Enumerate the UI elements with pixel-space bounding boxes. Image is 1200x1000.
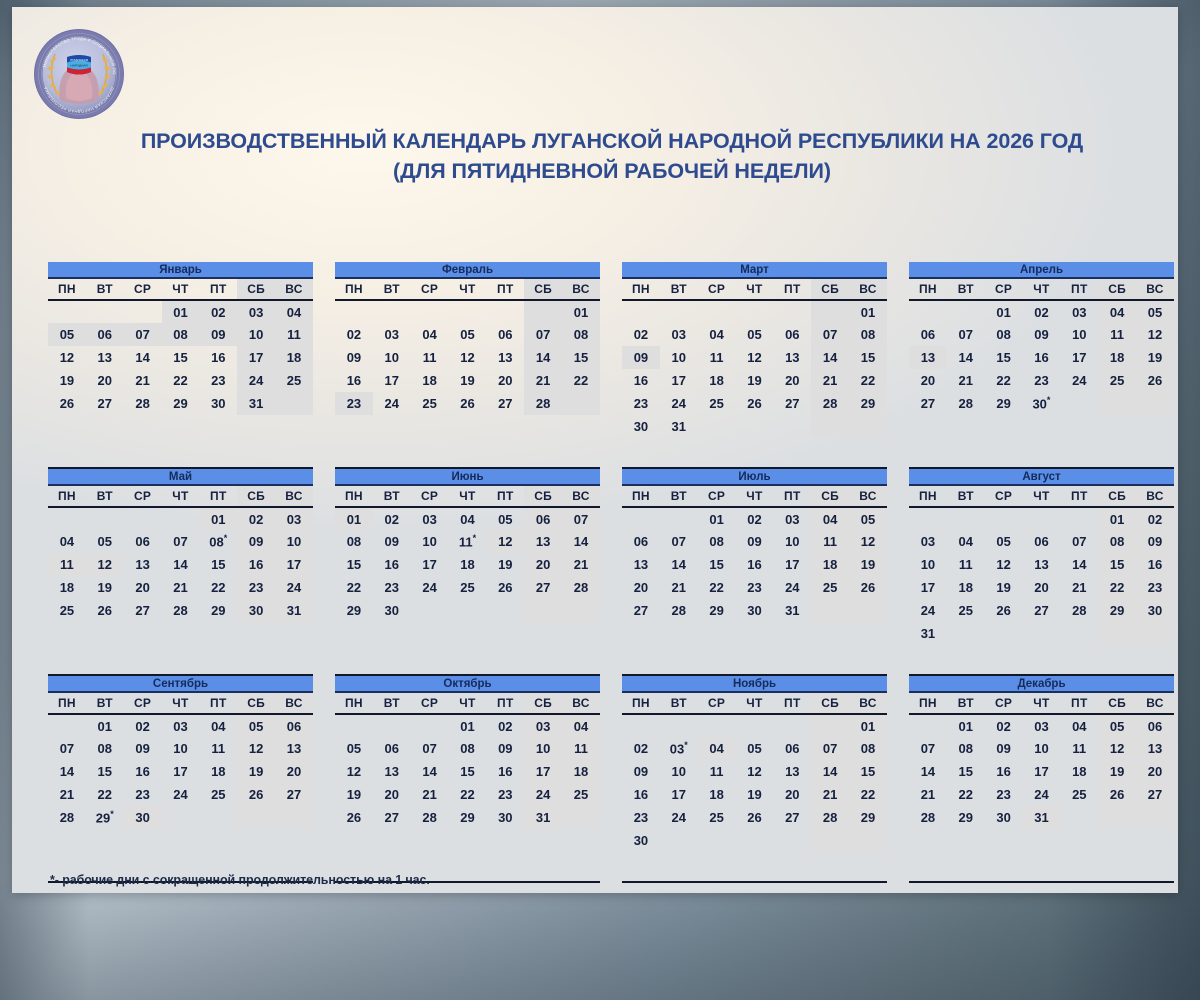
day-cell-5-02[interactable]: 02 — [237, 507, 275, 530]
day-cell-5-03[interactable]: 03 — [275, 507, 313, 530]
day-cell-1-04[interactable]: 04 — [275, 300, 313, 323]
day-cell-12-05[interactable]: 05 — [1098, 714, 1136, 737]
day-cell-4-08[interactable]: 08 — [985, 323, 1023, 346]
day-cell-4-20[interactable]: 20 — [909, 369, 947, 392]
day-cell-1-17[interactable]: 17 — [237, 346, 275, 369]
day-cell-9-21[interactable]: 21 — [48, 783, 86, 806]
day-cell-11-07[interactable]: 07 — [811, 737, 849, 760]
day-cell-6-19[interactable]: 19 — [486, 553, 524, 576]
day-cell-10-18[interactable]: 18 — [562, 760, 600, 783]
day-cell-12-12[interactable]: 12 — [1098, 737, 1136, 760]
day-cell-4-09[interactable]: 09 — [1023, 323, 1061, 346]
day-cell-3-09[interactable]: 09 — [622, 346, 660, 369]
day-cell-10-01[interactable]: 01 — [449, 714, 487, 737]
day-cell-10-08[interactable]: 08 — [449, 737, 487, 760]
day-cell-9-22[interactable]: 22 — [86, 783, 124, 806]
day-cell-4-27[interactable]: 27 — [909, 392, 947, 415]
day-cell-1-31[interactable]: 31 — [237, 392, 275, 415]
day-cell-8-25[interactable]: 25 — [947, 599, 985, 622]
day-cell-7-03[interactable]: 03 — [773, 507, 811, 530]
day-cell-6-08[interactable]: 08 — [335, 530, 373, 553]
day-cell-8-27[interactable]: 27 — [1023, 599, 1061, 622]
day-cell-7-07[interactable]: 07 — [660, 530, 698, 553]
day-cell-6-01[interactable]: 01 — [335, 507, 373, 530]
day-cell-7-18[interactable]: 18 — [811, 553, 849, 576]
day-cell-7-12[interactable]: 12 — [849, 530, 887, 553]
day-cell-4-12[interactable]: 12 — [1136, 323, 1174, 346]
day-cell-12-07[interactable]: 07 — [909, 737, 947, 760]
day-cell-9-25[interactable]: 25 — [199, 783, 237, 806]
day-cell-3-12[interactable]: 12 — [736, 346, 774, 369]
day-cell-6-11[interactable]: 11* — [449, 530, 487, 553]
day-cell-9-19[interactable]: 19 — [237, 760, 275, 783]
day-cell-11-10[interactable]: 10 — [660, 760, 698, 783]
day-cell-9-13[interactable]: 13 — [275, 737, 313, 760]
day-cell-12-21[interactable]: 21 — [909, 783, 947, 806]
day-cell-8-03[interactable]: 03 — [909, 530, 947, 553]
day-cell-2-05[interactable]: 05 — [449, 323, 487, 346]
day-cell-9-28[interactable]: 28 — [48, 806, 86, 829]
day-cell-9-08[interactable]: 08 — [86, 737, 124, 760]
day-cell-2-26[interactable]: 26 — [449, 392, 487, 415]
day-cell-11-23[interactable]: 23 — [622, 806, 660, 829]
day-cell-8-31[interactable]: 31 — [909, 622, 947, 645]
day-cell-12-17[interactable]: 17 — [1023, 760, 1061, 783]
day-cell-2-10[interactable]: 10 — [373, 346, 411, 369]
day-cell-12-19[interactable]: 19 — [1098, 760, 1136, 783]
day-cell-12-10[interactable]: 10 — [1023, 737, 1061, 760]
day-cell-12-14[interactable]: 14 — [909, 760, 947, 783]
day-cell-7-30[interactable]: 30 — [736, 599, 774, 622]
day-cell-10-05[interactable]: 05 — [335, 737, 373, 760]
day-cell-2-27[interactable]: 27 — [486, 392, 524, 415]
day-cell-8-16[interactable]: 16 — [1136, 553, 1174, 576]
day-cell-7-27[interactable]: 27 — [622, 599, 660, 622]
day-cell-5-07[interactable]: 07 — [162, 530, 200, 553]
day-cell-2-19[interactable]: 19 — [449, 369, 487, 392]
day-cell-12-09[interactable]: 09 — [985, 737, 1023, 760]
day-cell-7-31[interactable]: 31 — [773, 599, 811, 622]
day-cell-1-15[interactable]: 15 — [162, 346, 200, 369]
day-cell-2-24[interactable]: 24 — [373, 392, 411, 415]
day-cell-1-25[interactable]: 25 — [275, 369, 313, 392]
day-cell-3-06[interactable]: 06 — [773, 323, 811, 346]
day-cell-11-29[interactable]: 29 — [849, 806, 887, 829]
day-cell-4-11[interactable]: 11 — [1098, 323, 1136, 346]
day-cell-9-10[interactable]: 10 — [162, 737, 200, 760]
day-cell-1-28[interactable]: 28 — [124, 392, 162, 415]
day-cell-3-15[interactable]: 15 — [849, 346, 887, 369]
day-cell-7-22[interactable]: 22 — [698, 576, 736, 599]
day-cell-9-27[interactable]: 27 — [275, 783, 313, 806]
day-cell-4-29[interactable]: 29 — [985, 392, 1023, 415]
day-cell-10-14[interactable]: 14 — [411, 760, 449, 783]
day-cell-11-27[interactable]: 27 — [773, 806, 811, 829]
day-cell-3-02[interactable]: 02 — [622, 323, 660, 346]
day-cell-8-07[interactable]: 07 — [1060, 530, 1098, 553]
day-cell-10-19[interactable]: 19 — [335, 783, 373, 806]
day-cell-5-23[interactable]: 23 — [237, 576, 275, 599]
day-cell-6-20[interactable]: 20 — [524, 553, 562, 576]
day-cell-10-20[interactable]: 20 — [373, 783, 411, 806]
day-cell-7-01[interactable]: 01 — [698, 507, 736, 530]
day-cell-7-16[interactable]: 16 — [736, 553, 774, 576]
day-cell-5-19[interactable]: 19 — [86, 576, 124, 599]
day-cell-3-17[interactable]: 17 — [660, 369, 698, 392]
day-cell-8-09[interactable]: 09 — [1136, 530, 1174, 553]
day-cell-4-21[interactable]: 21 — [947, 369, 985, 392]
day-cell-12-29[interactable]: 29 — [947, 806, 985, 829]
day-cell-7-29[interactable]: 29 — [698, 599, 736, 622]
day-cell-1-26[interactable]: 26 — [48, 392, 86, 415]
day-cell-4-03[interactable]: 03 — [1060, 300, 1098, 323]
day-cell-9-15[interactable]: 15 — [86, 760, 124, 783]
day-cell-12-31[interactable]: 31 — [1023, 806, 1061, 829]
day-cell-2-15[interactable]: 15 — [562, 346, 600, 369]
day-cell-7-04[interactable]: 04 — [811, 507, 849, 530]
day-cell-3-26[interactable]: 26 — [736, 392, 774, 415]
day-cell-11-05[interactable]: 05 — [736, 737, 774, 760]
day-cell-6-07[interactable]: 07 — [562, 507, 600, 530]
day-cell-12-08[interactable]: 08 — [947, 737, 985, 760]
day-cell-1-05[interactable]: 05 — [48, 323, 86, 346]
day-cell-9-06[interactable]: 06 — [275, 714, 313, 737]
day-cell-12-24[interactable]: 24 — [1023, 783, 1061, 806]
day-cell-10-07[interactable]: 07 — [411, 737, 449, 760]
day-cell-7-14[interactable]: 14 — [660, 553, 698, 576]
day-cell-8-11[interactable]: 11 — [947, 553, 985, 576]
day-cell-3-08[interactable]: 08 — [849, 323, 887, 346]
day-cell-5-18[interactable]: 18 — [48, 576, 86, 599]
day-cell-7-26[interactable]: 26 — [849, 576, 887, 599]
day-cell-9-05[interactable]: 05 — [237, 714, 275, 737]
day-cell-7-19[interactable]: 19 — [849, 553, 887, 576]
day-cell-4-26[interactable]: 26 — [1136, 369, 1174, 392]
day-cell-8-23[interactable]: 23 — [1136, 576, 1174, 599]
day-cell-2-02[interactable]: 02 — [335, 323, 373, 346]
day-cell-7-11[interactable]: 11 — [811, 530, 849, 553]
day-cell-1-19[interactable]: 19 — [48, 369, 86, 392]
day-cell-11-17[interactable]: 17 — [660, 783, 698, 806]
day-cell-10-17[interactable]: 17 — [524, 760, 562, 783]
day-cell-4-28[interactable]: 28 — [947, 392, 985, 415]
day-cell-1-29[interactable]: 29 — [162, 392, 200, 415]
day-cell-8-05[interactable]: 05 — [985, 530, 1023, 553]
day-cell-2-03[interactable]: 03 — [373, 323, 411, 346]
day-cell-2-13[interactable]: 13 — [486, 346, 524, 369]
day-cell-12-03[interactable]: 03 — [1023, 714, 1061, 737]
day-cell-1-01[interactable]: 01 — [162, 300, 200, 323]
day-cell-2-18[interactable]: 18 — [411, 369, 449, 392]
day-cell-8-04[interactable]: 04 — [947, 530, 985, 553]
day-cell-7-15[interactable]: 15 — [698, 553, 736, 576]
day-cell-10-28[interactable]: 28 — [411, 806, 449, 829]
day-cell-10-11[interactable]: 11 — [562, 737, 600, 760]
day-cell-4-30[interactable]: 30* — [1023, 392, 1061, 415]
day-cell-6-27[interactable]: 27 — [524, 576, 562, 599]
day-cell-9-30[interactable]: 30 — [124, 806, 162, 829]
day-cell-8-20[interactable]: 20 — [1023, 576, 1061, 599]
day-cell-3-27[interactable]: 27 — [773, 392, 811, 415]
day-cell-2-07[interactable]: 07 — [524, 323, 562, 346]
day-cell-12-26[interactable]: 26 — [1098, 783, 1136, 806]
day-cell-6-02[interactable]: 02 — [373, 507, 411, 530]
day-cell-3-11[interactable]: 11 — [698, 346, 736, 369]
day-cell-4-22[interactable]: 22 — [985, 369, 1023, 392]
day-cell-11-20[interactable]: 20 — [773, 783, 811, 806]
day-cell-9-09[interactable]: 09 — [124, 737, 162, 760]
day-cell-1-02[interactable]: 02 — [199, 300, 237, 323]
day-cell-7-25[interactable]: 25 — [811, 576, 849, 599]
day-cell-2-20[interactable]: 20 — [486, 369, 524, 392]
day-cell-2-22[interactable]: 22 — [562, 369, 600, 392]
day-cell-12-28[interactable]: 28 — [909, 806, 947, 829]
day-cell-11-04[interactable]: 04 — [698, 737, 736, 760]
day-cell-12-15[interactable]: 15 — [947, 760, 985, 783]
day-cell-6-17[interactable]: 17 — [411, 553, 449, 576]
day-cell-4-10[interactable]: 10 — [1060, 323, 1098, 346]
day-cell-3-03[interactable]: 03 — [660, 323, 698, 346]
day-cell-11-30[interactable]: 30 — [622, 829, 660, 852]
day-cell-9-16[interactable]: 16 — [124, 760, 162, 783]
day-cell-10-06[interactable]: 06 — [373, 737, 411, 760]
day-cell-11-18[interactable]: 18 — [698, 783, 736, 806]
day-cell-8-28[interactable]: 28 — [1060, 599, 1098, 622]
day-cell-4-02[interactable]: 02 — [1023, 300, 1061, 323]
day-cell-3-31[interactable]: 31 — [660, 415, 698, 438]
day-cell-5-10[interactable]: 10 — [275, 530, 313, 553]
day-cell-10-24[interactable]: 24 — [524, 783, 562, 806]
day-cell-5-05[interactable]: 05 — [86, 530, 124, 553]
day-cell-10-04[interactable]: 04 — [562, 714, 600, 737]
day-cell-10-09[interactable]: 09 — [486, 737, 524, 760]
day-cell-10-30[interactable]: 30 — [486, 806, 524, 829]
day-cell-1-08[interactable]: 08 — [162, 323, 200, 346]
day-cell-1-22[interactable]: 22 — [162, 369, 200, 392]
day-cell-9-23[interactable]: 23 — [124, 783, 162, 806]
day-cell-7-10[interactable]: 10 — [773, 530, 811, 553]
day-cell-4-06[interactable]: 06 — [909, 323, 947, 346]
day-cell-12-01[interactable]: 01 — [947, 714, 985, 737]
day-cell-11-22[interactable]: 22 — [849, 783, 887, 806]
day-cell-1-23[interactable]: 23 — [199, 369, 237, 392]
day-cell-5-29[interactable]: 29 — [199, 599, 237, 622]
day-cell-2-25[interactable]: 25 — [411, 392, 449, 415]
day-cell-9-12[interactable]: 12 — [237, 737, 275, 760]
day-cell-5-01[interactable]: 01 — [199, 507, 237, 530]
day-cell-4-15[interactable]: 15 — [985, 346, 1023, 369]
day-cell-6-12[interactable]: 12 — [486, 530, 524, 553]
day-cell-8-10[interactable]: 10 — [909, 553, 947, 576]
day-cell-5-25[interactable]: 25 — [48, 599, 86, 622]
day-cell-7-17[interactable]: 17 — [773, 553, 811, 576]
day-cell-5-08[interactable]: 08* — [199, 530, 237, 553]
day-cell-6-13[interactable]: 13 — [524, 530, 562, 553]
day-cell-11-21[interactable]: 21 — [811, 783, 849, 806]
day-cell-3-05[interactable]: 05 — [736, 323, 774, 346]
day-cell-5-26[interactable]: 26 — [86, 599, 124, 622]
day-cell-10-22[interactable]: 22 — [449, 783, 487, 806]
day-cell-3-25[interactable]: 25 — [698, 392, 736, 415]
day-cell-5-12[interactable]: 12 — [86, 553, 124, 576]
day-cell-3-16[interactable]: 16 — [622, 369, 660, 392]
day-cell-5-31[interactable]: 31 — [275, 599, 313, 622]
day-cell-6-16[interactable]: 16 — [373, 553, 411, 576]
day-cell-1-09[interactable]: 09 — [199, 323, 237, 346]
day-cell-12-25[interactable]: 25 — [1060, 783, 1098, 806]
day-cell-3-20[interactable]: 20 — [773, 369, 811, 392]
day-cell-2-14[interactable]: 14 — [524, 346, 562, 369]
day-cell-2-23[interactable]: 23 — [335, 392, 373, 415]
day-cell-2-04[interactable]: 04 — [411, 323, 449, 346]
day-cell-12-30[interactable]: 30 — [985, 806, 1023, 829]
day-cell-9-04[interactable]: 04 — [199, 714, 237, 737]
day-cell-6-29[interactable]: 29 — [335, 599, 373, 622]
day-cell-11-13[interactable]: 13 — [773, 760, 811, 783]
day-cell-5-13[interactable]: 13 — [124, 553, 162, 576]
day-cell-6-22[interactable]: 22 — [335, 576, 373, 599]
day-cell-9-01[interactable]: 01 — [86, 714, 124, 737]
day-cell-4-17[interactable]: 17 — [1060, 346, 1098, 369]
day-cell-10-02[interactable]: 02 — [486, 714, 524, 737]
day-cell-5-20[interactable]: 20 — [124, 576, 162, 599]
day-cell-5-30[interactable]: 30 — [237, 599, 275, 622]
day-cell-4-04[interactable]: 04 — [1098, 300, 1136, 323]
day-cell-12-18[interactable]: 18 — [1060, 760, 1098, 783]
day-cell-1-21[interactable]: 21 — [124, 369, 162, 392]
day-cell-1-30[interactable]: 30 — [199, 392, 237, 415]
day-cell-11-12[interactable]: 12 — [736, 760, 774, 783]
day-cell-3-18[interactable]: 18 — [698, 369, 736, 392]
day-cell-8-14[interactable]: 14 — [1060, 553, 1098, 576]
day-cell-7-08[interactable]: 08 — [698, 530, 736, 553]
day-cell-7-20[interactable]: 20 — [622, 576, 660, 599]
day-cell-12-23[interactable]: 23 — [985, 783, 1023, 806]
day-cell-1-03[interactable]: 03 — [237, 300, 275, 323]
day-cell-9-11[interactable]: 11 — [199, 737, 237, 760]
day-cell-2-16[interactable]: 16 — [335, 369, 373, 392]
day-cell-5-24[interactable]: 24 — [275, 576, 313, 599]
day-cell-4-01[interactable]: 01 — [985, 300, 1023, 323]
day-cell-11-28[interactable]: 28 — [811, 806, 849, 829]
day-cell-2-17[interactable]: 17 — [373, 369, 411, 392]
day-cell-7-05[interactable]: 05 — [849, 507, 887, 530]
day-cell-7-28[interactable]: 28 — [660, 599, 698, 622]
day-cell-2-28[interactable]: 28 — [524, 392, 562, 415]
day-cell-1-20[interactable]: 20 — [86, 369, 124, 392]
day-cell-10-12[interactable]: 12 — [335, 760, 373, 783]
day-cell-1-16[interactable]: 16 — [199, 346, 237, 369]
day-cell-9-18[interactable]: 18 — [199, 760, 237, 783]
day-cell-8-21[interactable]: 21 — [1060, 576, 1098, 599]
day-cell-6-25[interactable]: 25 — [449, 576, 487, 599]
day-cell-7-09[interactable]: 09 — [736, 530, 774, 553]
day-cell-1-12[interactable]: 12 — [48, 346, 86, 369]
day-cell-6-30[interactable]: 30 — [373, 599, 411, 622]
day-cell-12-20[interactable]: 20 — [1136, 760, 1174, 783]
day-cell-1-18[interactable]: 18 — [275, 346, 313, 369]
day-cell-8-13[interactable]: 13 — [1023, 553, 1061, 576]
day-cell-4-18[interactable]: 18 — [1098, 346, 1136, 369]
day-cell-9-07[interactable]: 07 — [48, 737, 86, 760]
day-cell-1-10[interactable]: 10 — [237, 323, 275, 346]
day-cell-10-03[interactable]: 03 — [524, 714, 562, 737]
day-cell-5-09[interactable]: 09 — [237, 530, 275, 553]
day-cell-2-09[interactable]: 09 — [335, 346, 373, 369]
day-cell-9-29[interactable]: 29* — [86, 806, 124, 829]
day-cell-5-17[interactable]: 17 — [275, 553, 313, 576]
day-cell-6-26[interactable]: 26 — [486, 576, 524, 599]
day-cell-11-14[interactable]: 14 — [811, 760, 849, 783]
day-cell-10-10[interactable]: 10 — [524, 737, 562, 760]
day-cell-12-02[interactable]: 02 — [985, 714, 1023, 737]
day-cell-3-21[interactable]: 21 — [811, 369, 849, 392]
day-cell-12-27[interactable]: 27 — [1136, 783, 1174, 806]
day-cell-9-26[interactable]: 26 — [237, 783, 275, 806]
day-cell-11-15[interactable]: 15 — [849, 760, 887, 783]
day-cell-4-16[interactable]: 16 — [1023, 346, 1061, 369]
day-cell-1-11[interactable]: 11 — [275, 323, 313, 346]
day-cell-9-24[interactable]: 24 — [162, 783, 200, 806]
day-cell-5-11[interactable]: 11 — [48, 553, 86, 576]
day-cell-7-13[interactable]: 13 — [622, 553, 660, 576]
day-cell-3-28[interactable]: 28 — [811, 392, 849, 415]
day-cell-8-30[interactable]: 30 — [1136, 599, 1174, 622]
day-cell-7-24[interactable]: 24 — [773, 576, 811, 599]
day-cell-2-08[interactable]: 08 — [562, 323, 600, 346]
day-cell-6-21[interactable]: 21 — [562, 553, 600, 576]
day-cell-8-02[interactable]: 02 — [1136, 507, 1174, 530]
day-cell-8-15[interactable]: 15 — [1098, 553, 1136, 576]
day-cell-1-24[interactable]: 24 — [237, 369, 275, 392]
day-cell-10-26[interactable]: 26 — [335, 806, 373, 829]
day-cell-3-29[interactable]: 29 — [849, 392, 887, 415]
day-cell-3-13[interactable]: 13 — [773, 346, 811, 369]
day-cell-3-23[interactable]: 23 — [622, 392, 660, 415]
day-cell-5-15[interactable]: 15 — [199, 553, 237, 576]
day-cell-5-21[interactable]: 21 — [162, 576, 200, 599]
day-cell-2-01[interactable]: 01 — [562, 300, 600, 323]
day-cell-10-13[interactable]: 13 — [373, 760, 411, 783]
day-cell-3-30[interactable]: 30 — [622, 415, 660, 438]
day-cell-11-16[interactable]: 16 — [622, 783, 660, 806]
day-cell-3-04[interactable]: 04 — [698, 323, 736, 346]
day-cell-4-13[interactable]: 13 — [909, 346, 947, 369]
day-cell-12-06[interactable]: 06 — [1136, 714, 1174, 737]
day-cell-6-03[interactable]: 03 — [411, 507, 449, 530]
day-cell-12-22[interactable]: 22 — [947, 783, 985, 806]
day-cell-5-22[interactable]: 22 — [199, 576, 237, 599]
day-cell-1-07[interactable]: 07 — [124, 323, 162, 346]
day-cell-11-11[interactable]: 11 — [698, 760, 736, 783]
day-cell-4-25[interactable]: 25 — [1098, 369, 1136, 392]
day-cell-12-11[interactable]: 11 — [1060, 737, 1098, 760]
day-cell-9-02[interactable]: 02 — [124, 714, 162, 737]
day-cell-11-25[interactable]: 25 — [698, 806, 736, 829]
day-cell-4-07[interactable]: 07 — [947, 323, 985, 346]
day-cell-5-14[interactable]: 14 — [162, 553, 200, 576]
day-cell-11-19[interactable]: 19 — [736, 783, 774, 806]
day-cell-8-29[interactable]: 29 — [1098, 599, 1136, 622]
day-cell-3-01[interactable]: 01 — [849, 300, 887, 323]
day-cell-6-15[interactable]: 15 — [335, 553, 373, 576]
day-cell-2-11[interactable]: 11 — [411, 346, 449, 369]
day-cell-10-16[interactable]: 16 — [486, 760, 524, 783]
day-cell-1-27[interactable]: 27 — [86, 392, 124, 415]
day-cell-6-14[interactable]: 14 — [562, 530, 600, 553]
day-cell-3-07[interactable]: 07 — [811, 323, 849, 346]
day-cell-10-21[interactable]: 21 — [411, 783, 449, 806]
